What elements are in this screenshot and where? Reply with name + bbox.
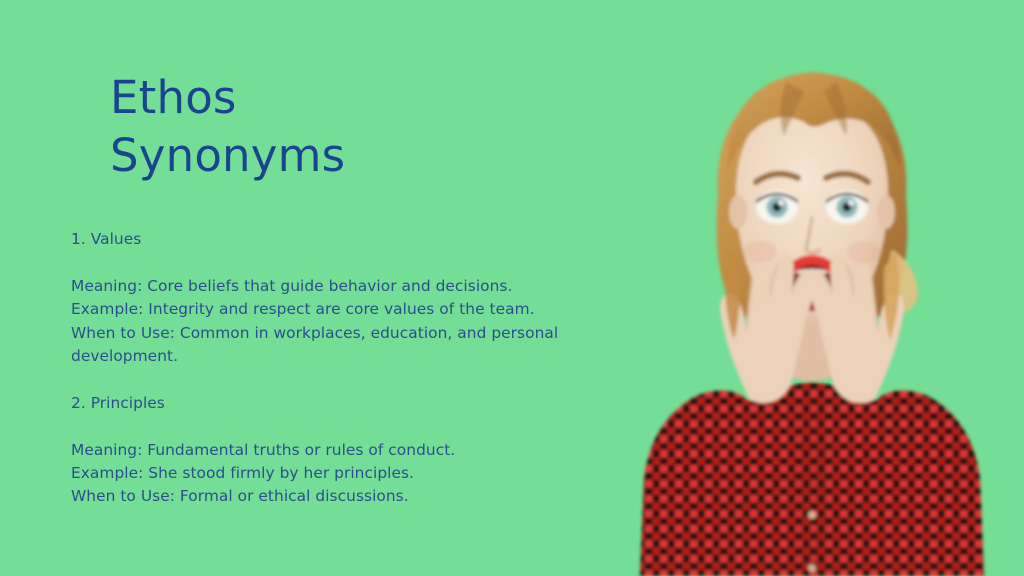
- section-line: When to Use: Common in workplaces, educa…: [71, 322, 571, 369]
- slide: Ethos Synonyms 1. Values Meaning: Core b…: [0, 0, 1024, 576]
- section-line: When to Use: Formal or ethical discussio…: [71, 485, 571, 508]
- section-line: Meaning: Core beliefs that guide behavio…: [71, 275, 571, 298]
- photo-blur-overlay: [600, 0, 1024, 576]
- text-column: Ethos Synonyms 1. Values Meaning: Core b…: [71, 0, 591, 576]
- body-content: 1. Values Meaning: Core beliefs that gui…: [71, 228, 571, 509]
- photo-illustration: [600, 0, 1024, 576]
- section-values: 1. Values Meaning: Core beliefs that gui…: [71, 228, 571, 368]
- page-title: Ethos Synonyms: [110, 69, 345, 185]
- section-line: Meaning: Fundamental truths or rules of …: [71, 439, 571, 462]
- section-line: Example: Integrity and respect are core …: [71, 298, 571, 321]
- section-principles: 2. Principles Meaning: Fundamental truth…: [71, 392, 571, 509]
- section-line: Example: She stood firmly by her princip…: [71, 462, 571, 485]
- surprised-woman-photo: [600, 0, 1024, 576]
- section-heading: 1. Values: [71, 228, 571, 251]
- section-heading: 2. Principles: [71, 392, 571, 415]
